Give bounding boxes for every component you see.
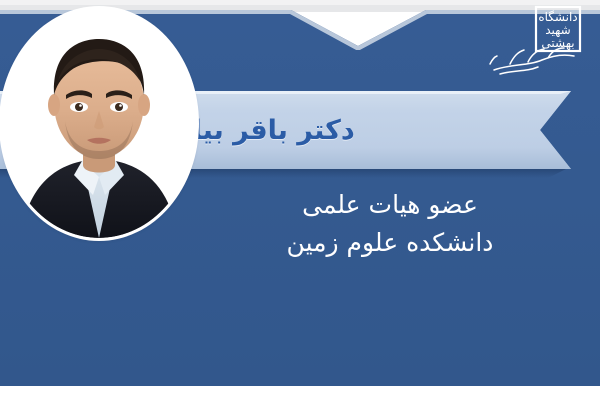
shahid-beheshti-university-logo-icon: دانشگاه شهید بهشتی (480, 4, 592, 82)
portrait-illustration (2, 9, 196, 238)
person-faculty: دانشکده علوم زمین (195, 224, 585, 262)
svg-text:بهشتی: بهشتی (541, 36, 574, 50)
person-role: عضو هیات علمی (195, 186, 585, 224)
logo-frame: دانشگاه شهید بهشتی (536, 7, 580, 51)
avatar (2, 9, 196, 238)
person-title-block: عضو هیات علمی دانشکده علوم زمین (195, 186, 585, 262)
svg-text:شهید: شهید (545, 23, 571, 37)
bottom-white-band (0, 386, 600, 400)
profile-card: دکتر باقر بیات عضو هیات علمی دانشکده علو… (0, 0, 600, 400)
portrait-photo (2, 9, 196, 238)
svg-text:دانشگاه: دانشگاه (538, 10, 577, 24)
university-logo: دانشگاه شهید بهشتی (480, 4, 592, 82)
